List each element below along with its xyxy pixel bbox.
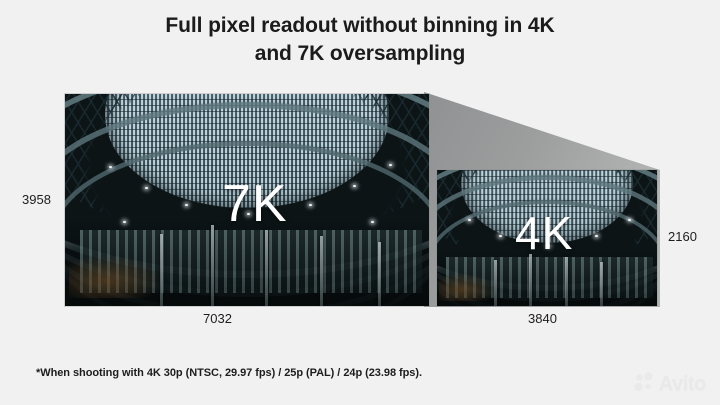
page-title-line-2: and 7K oversampling	[0, 40, 720, 68]
page-title: Full pixel readout without binning in 4K…	[0, 12, 720, 67]
warm-floor-glow	[439, 273, 496, 300]
pillar	[565, 257, 568, 306]
pillar	[211, 225, 214, 306]
sensor-image-7k: 7K	[65, 94, 429, 306]
page-title-line-1: Full pixel readout without binning in 4K	[0, 12, 720, 40]
avito-watermark-text: Avito	[659, 373, 706, 396]
ceiling-light	[109, 166, 112, 168]
dimension-label-4k-height: 2160	[668, 229, 697, 244]
avito-dots-icon	[634, 372, 656, 397]
footnote: *When shooting with 4K 30p (NTSC, 29.97 …	[36, 367, 422, 379]
pillar	[320, 236, 323, 306]
slide-canvas: Full pixel readout without binning in 4K…	[0, 0, 720, 405]
ceiling-light	[353, 185, 356, 187]
warm-floor-glow	[69, 255, 164, 297]
pillar	[160, 234, 163, 306]
dimension-label-4k-width: 3840	[528, 311, 557, 326]
pillar	[600, 262, 603, 306]
resolution-overlay-7k: 7K	[222, 178, 288, 230]
pillar	[494, 260, 497, 306]
dimension-label-7k-height: 3958	[22, 192, 51, 207]
dimension-label-7k-width: 7032	[203, 311, 232, 326]
pillar	[529, 254, 532, 306]
resolution-overlay-4k: 4K	[515, 210, 573, 256]
ceiling-light	[468, 219, 471, 221]
sensor-image-4k: 4K	[437, 170, 657, 306]
avito-watermark: Avito	[634, 372, 706, 397]
ceiling-light	[389, 164, 392, 166]
pillar	[378, 242, 381, 306]
pillar	[265, 230, 268, 306]
